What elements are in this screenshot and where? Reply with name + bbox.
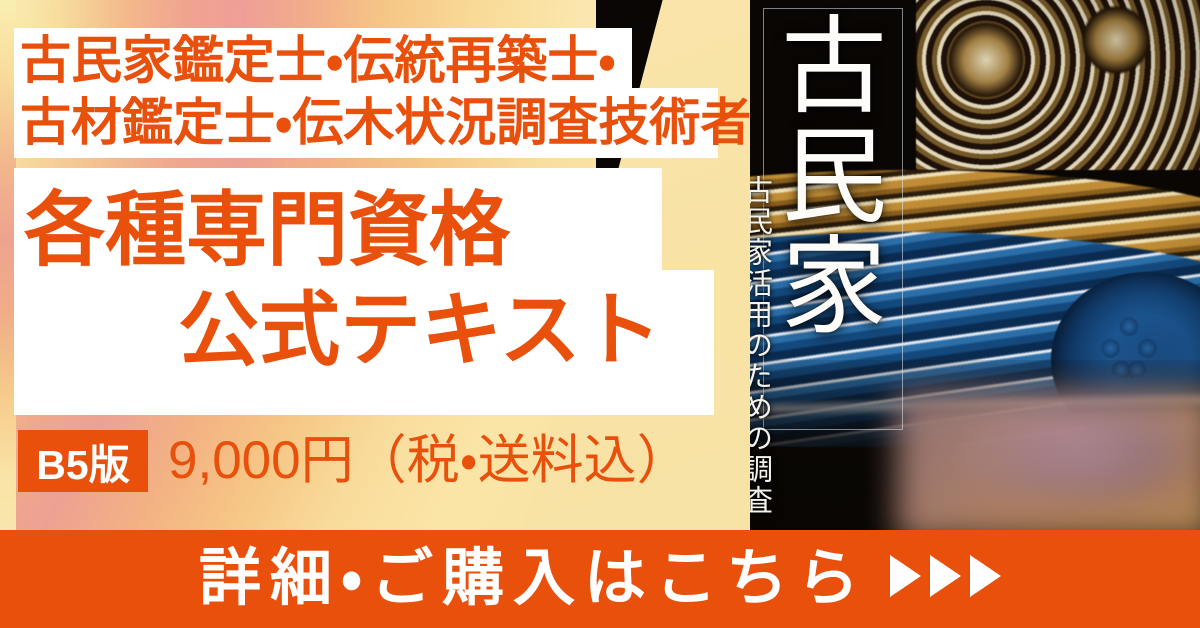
- play-arrow-icon: [930, 555, 961, 597]
- cta-arrows: [890, 555, 1001, 597]
- play-arrow-icon: [970, 555, 1001, 597]
- qualifications-line-2: 古材鑑定士・伝木状況調査技術者: [20, 92, 751, 154]
- headline-line-1: 各種専門資格: [24, 183, 510, 279]
- cover-title-text: 古民家: [771, 10, 891, 340]
- headline-line-2: 公式テキスト: [178, 283, 662, 379]
- qualifications-line-1: 古民家鑑定士・伝統再築士・: [20, 30, 616, 92]
- cta-label: 詳細・ご購入はこちら: [199, 544, 868, 614]
- cta-bar[interactable]: 詳細・ご購入はこちら: [0, 530, 1200, 628]
- play-arrow-icon: [890, 555, 921, 597]
- promotional-banner: 古民家 伝統構法 古民家活用のための調査と再生の 古民家鑑定士・伝統再築士・ 古…: [0, 0, 1200, 628]
- price-text: 9,000円（税・送料込）: [168, 432, 690, 490]
- format-badge: B5版: [18, 430, 148, 492]
